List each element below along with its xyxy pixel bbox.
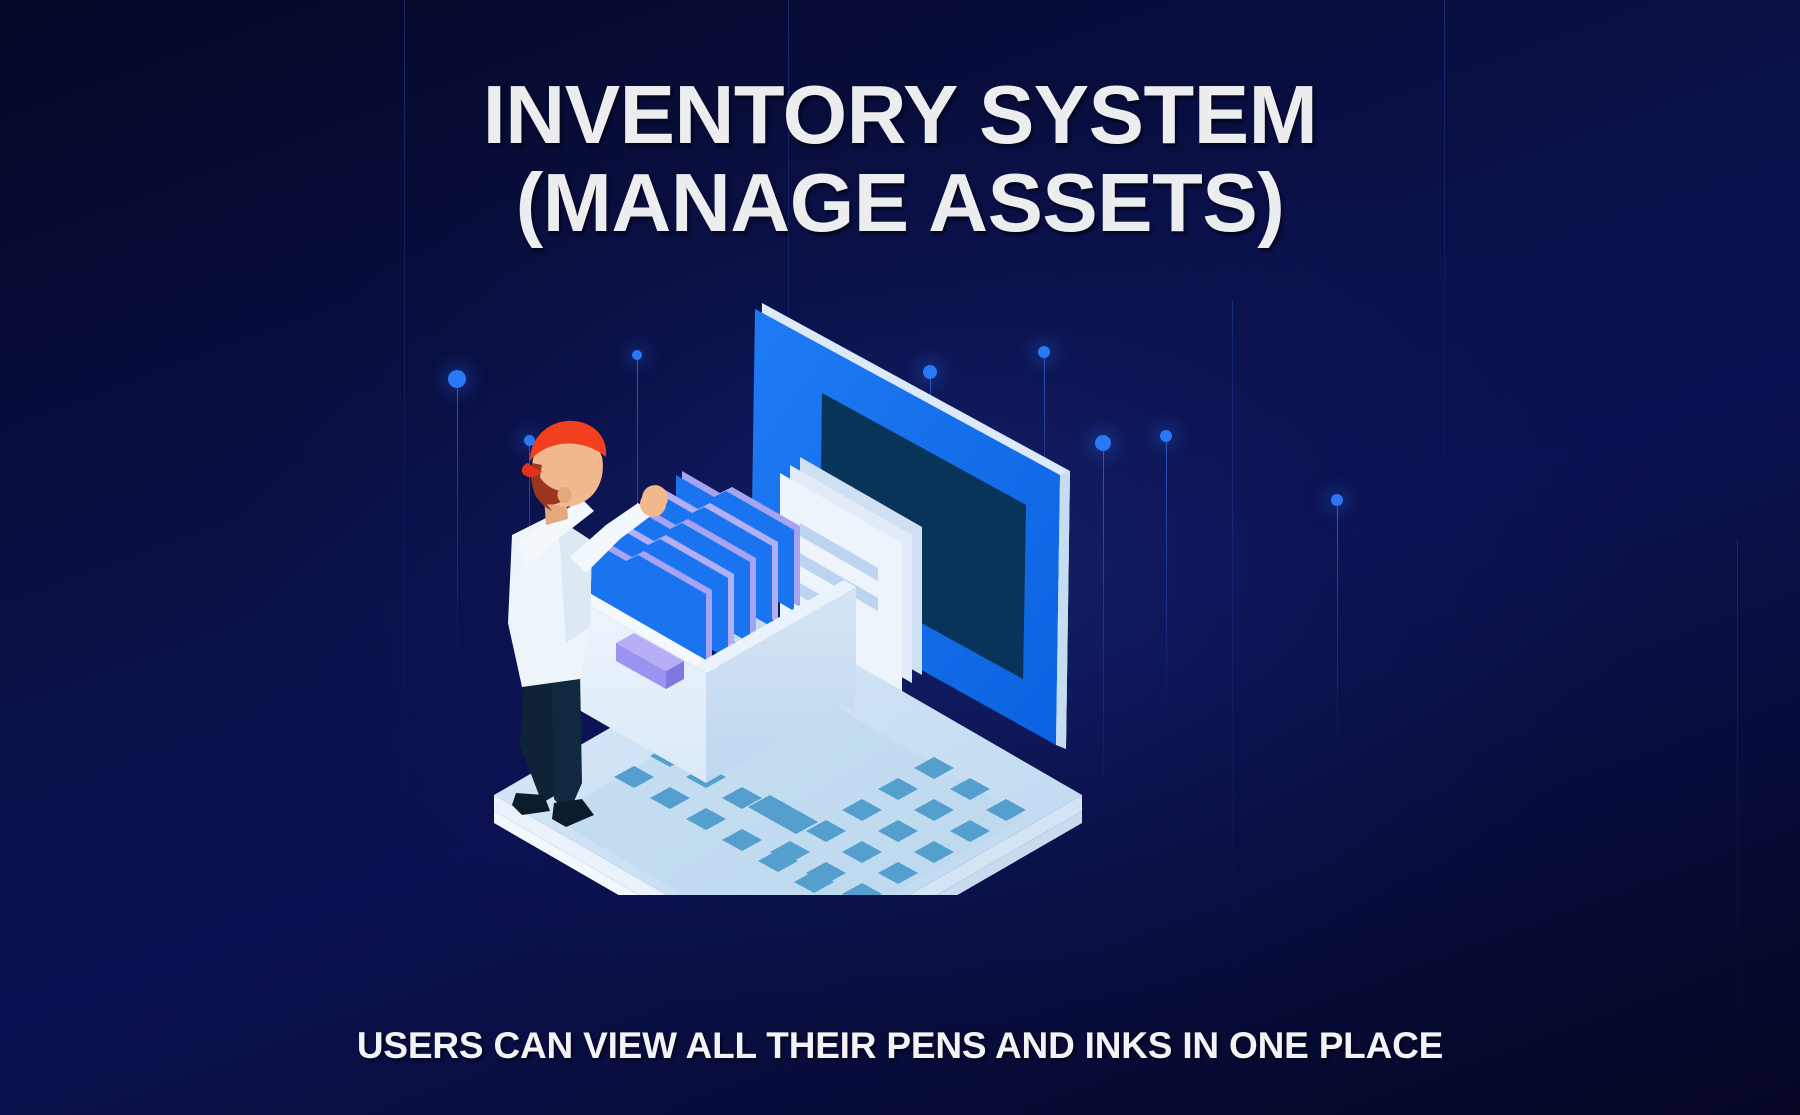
caption-text: USERS CAN VIEW ALL THEIR PENS AND INKS I…	[0, 1025, 1800, 1067]
slide-canvas: INVENTORY SYSTEM (MANAGE ASSETS)	[0, 0, 1800, 1115]
trail-line	[1232, 300, 1233, 1115]
glow-dot	[448, 370, 466, 388]
person-ear	[557, 487, 571, 503]
dot-trail	[1166, 436, 1167, 716]
page-title-line-1: INVENTORY SYSTEM	[0, 74, 1800, 155]
dot-trail	[1337, 500, 1338, 760]
hero-illustration	[470, 275, 1110, 895]
page-title-line-2: (MANAGE ASSETS)	[0, 162, 1800, 243]
page-title: INVENTORY SYSTEM (MANAGE ASSETS)	[0, 74, 1800, 244]
glow-dot	[1331, 494, 1343, 506]
glow-dot	[1160, 430, 1172, 442]
isometric-laptop-illustration-svg	[470, 275, 1110, 895]
dot-trail	[457, 379, 458, 679]
